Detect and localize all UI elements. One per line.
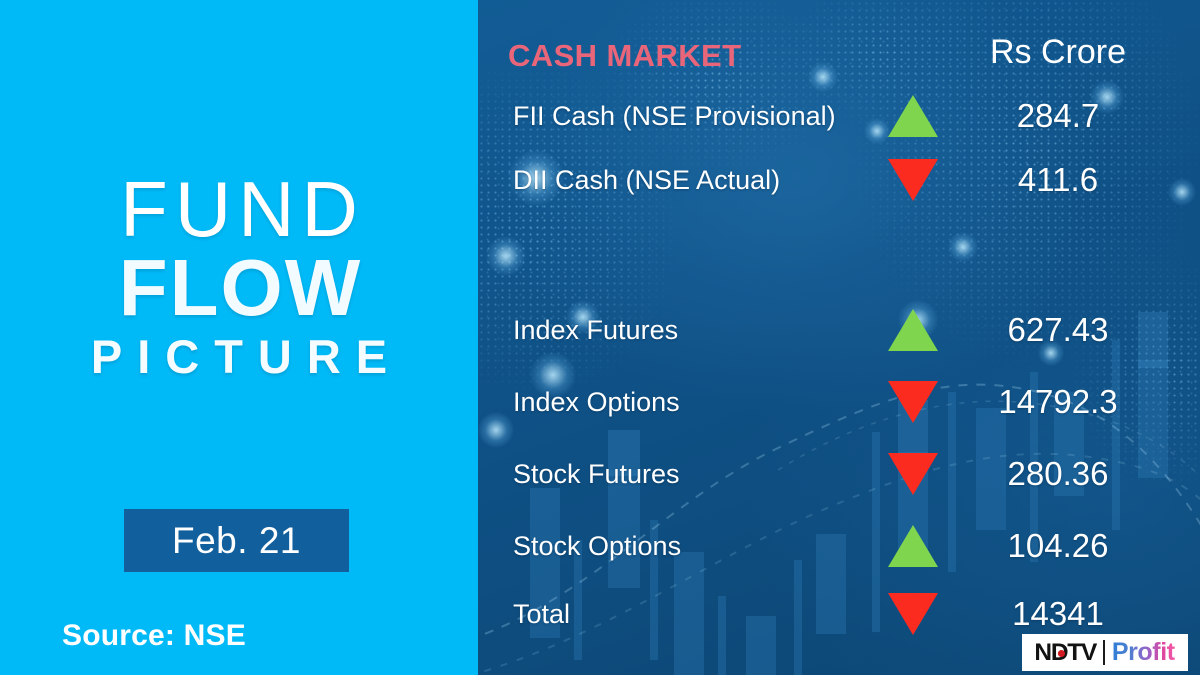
row-label: FII Cash (NSE Provisional) bbox=[513, 88, 836, 144]
profit-wordmark: Profit bbox=[1112, 638, 1175, 667]
fund-flow-table: CASH MARKET Rs Crore FII Cash (NSE Provi… bbox=[478, 0, 1200, 675]
ndtv-profit-logo: NDTV Profit bbox=[1022, 634, 1188, 671]
table-header-row: CASH MARKET Rs Crore bbox=[478, 0, 1200, 86]
arrow-up-icon bbox=[888, 95, 938, 137]
arrow-down-icon bbox=[888, 381, 938, 423]
arrow-down-icon bbox=[888, 159, 938, 201]
table-row: DII Cash (NSE Actual) 411.6 bbox=[478, 152, 1200, 208]
table-row: Stock Options 104.26 bbox=[478, 518, 1200, 574]
row-label: Index Futures bbox=[513, 302, 678, 358]
date-badge: Feb. 21 bbox=[124, 509, 349, 572]
row-label: Index Options bbox=[513, 374, 680, 430]
arrow-down-icon bbox=[888, 593, 938, 635]
direction-indicator bbox=[858, 374, 968, 430]
logo-divider bbox=[1103, 640, 1105, 665]
unit-label: Rs Crore bbox=[958, 33, 1158, 72]
row-value: 411.6 bbox=[958, 152, 1158, 208]
direction-indicator bbox=[858, 518, 968, 574]
row-label: Total bbox=[513, 586, 570, 642]
brand-line-fund: FUND bbox=[0, 172, 478, 247]
row-value: 14792.3 bbox=[958, 374, 1158, 430]
left-brand-panel: FUND FLOW PICTURE Feb. 21 Source: NSE bbox=[0, 0, 478, 675]
direction-indicator bbox=[858, 88, 968, 144]
fund-flow-graphic: FUND FLOW PICTURE Feb. 21 Source: NSE bbox=[0, 0, 1200, 675]
table-row: Index Options 14792.3 bbox=[478, 374, 1200, 430]
brand-title-block: FUND FLOW PICTURE bbox=[0, 172, 478, 387]
direction-indicator bbox=[858, 586, 968, 642]
brand-line-flow: FLOW bbox=[0, 247, 478, 329]
row-value: 627.43 bbox=[958, 302, 1158, 358]
ndtv-text: NDTV bbox=[1035, 639, 1097, 666]
section-title: CASH MARKET bbox=[508, 38, 741, 74]
row-value: 284.7 bbox=[958, 88, 1158, 144]
direction-indicator bbox=[858, 302, 968, 358]
arrow-down-icon bbox=[888, 453, 938, 495]
table-row: Index Futures 627.43 bbox=[478, 302, 1200, 358]
row-label: DII Cash (NSE Actual) bbox=[513, 152, 780, 208]
row-value: 104.26 bbox=[958, 518, 1158, 574]
table-row: Stock Futures 280.36 bbox=[478, 446, 1200, 502]
ndtv-wordmark: NDTV bbox=[1035, 639, 1097, 667]
direction-indicator bbox=[858, 152, 968, 208]
arrow-up-icon bbox=[888, 309, 938, 351]
source-label: Source: NSE bbox=[62, 619, 246, 653]
table-row: FII Cash (NSE Provisional) 284.7 bbox=[478, 88, 1200, 144]
direction-indicator bbox=[858, 446, 968, 502]
arrow-up-icon bbox=[888, 525, 938, 567]
row-label: Stock Options bbox=[513, 518, 681, 574]
brand-line-picture: PICTURE bbox=[0, 328, 478, 387]
data-panel: CASH MARKET Rs Crore FII Cash (NSE Provi… bbox=[478, 0, 1200, 675]
row-label: Stock Futures bbox=[513, 446, 680, 502]
row-value: 280.36 bbox=[958, 446, 1158, 502]
